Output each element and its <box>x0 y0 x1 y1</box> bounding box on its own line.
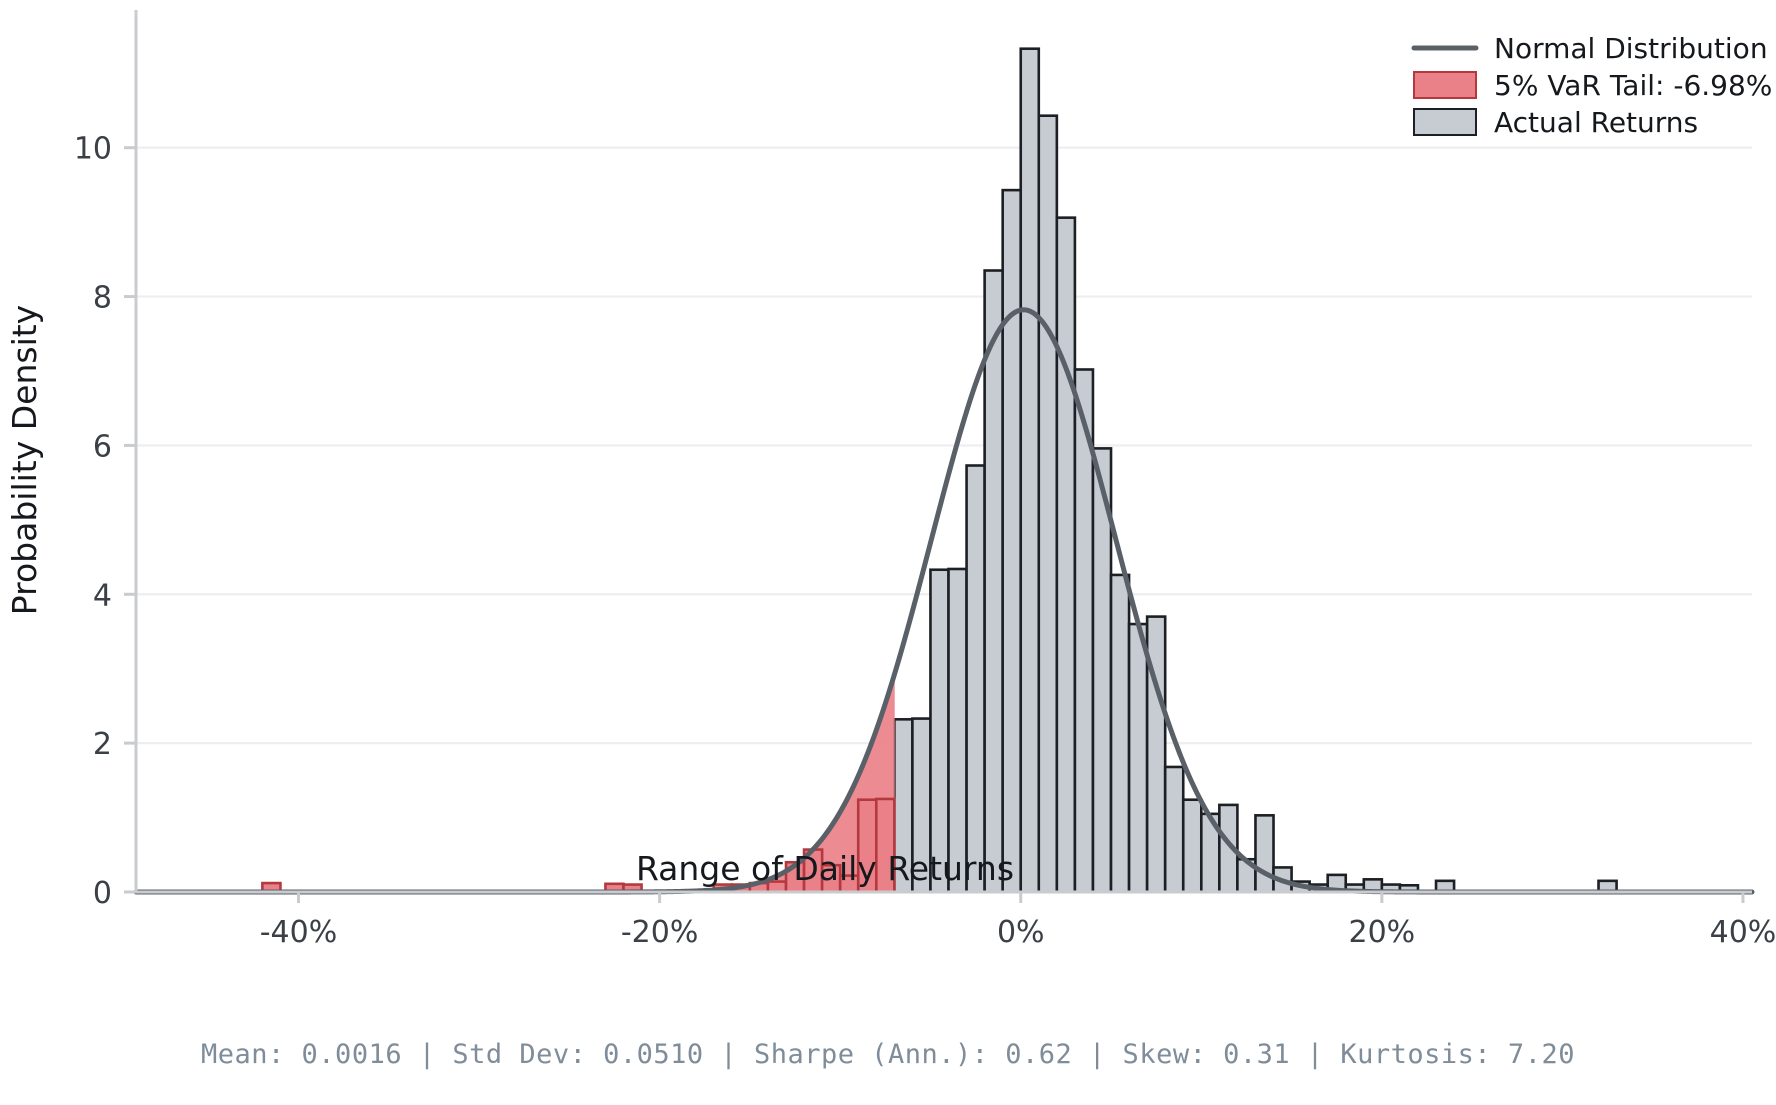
x-tick-label: -20% <box>621 915 699 950</box>
x-tick-label: 0% <box>997 915 1045 950</box>
histogram-bar <box>967 466 985 892</box>
legend-item-label: Normal Distribution <box>1494 32 1768 65</box>
legend-item-label: Actual Returns <box>1494 106 1698 139</box>
x-axis-title: Range of Daily Returns <box>636 849 1014 888</box>
histogram-bar <box>1183 800 1201 892</box>
histogram-bar <box>1003 190 1021 892</box>
legend-item-label: 5% VaR Tail: -6.98% <box>1494 69 1772 102</box>
histogram-plot: -40%-20%0%20%40% 0246810 Normal Distribu… <box>0 0 1776 1105</box>
y-tick-label: 6 <box>93 429 112 464</box>
y-tick-label: 4 <box>93 578 112 613</box>
y-tick-label: 2 <box>93 727 112 762</box>
histogram-bar <box>930 570 948 892</box>
y-tick-label: 0 <box>93 876 112 911</box>
histogram-bar <box>1021 49 1039 892</box>
legend-item[interactable]: 5% VaR Tail: -6.98% <box>1414 69 1772 102</box>
x-tick-label: 20% <box>1349 915 1416 950</box>
chart-figure: -40%-20%0%20%40% 0246810 Normal Distribu… <box>0 0 1776 1105</box>
histogram-bar <box>1165 767 1183 892</box>
legend-patch-swatch <box>1414 109 1476 135</box>
histogram-bar <box>985 271 1003 892</box>
histogram-bar <box>949 569 967 892</box>
x-tick-label: 40% <box>1710 915 1776 950</box>
y-tick-label: 8 <box>93 281 112 316</box>
x-tick-label: -40% <box>260 915 338 950</box>
legend-item[interactable]: Actual Returns <box>1414 106 1698 139</box>
histogram-bar <box>1039 116 1057 892</box>
histogram-bar <box>1057 218 1075 892</box>
y-axis-title: Probability Density <box>5 305 44 615</box>
histogram-bar <box>1111 575 1129 892</box>
legend-patch-swatch <box>1414 72 1476 98</box>
y-tick-label: 10 <box>74 132 112 167</box>
histogram-bar <box>1255 815 1273 892</box>
footer-stats-line: Mean: 0.0016 | Std Dev: 0.0510 | Sharpe … <box>201 1039 1575 1070</box>
histogram-bar <box>1129 624 1147 892</box>
